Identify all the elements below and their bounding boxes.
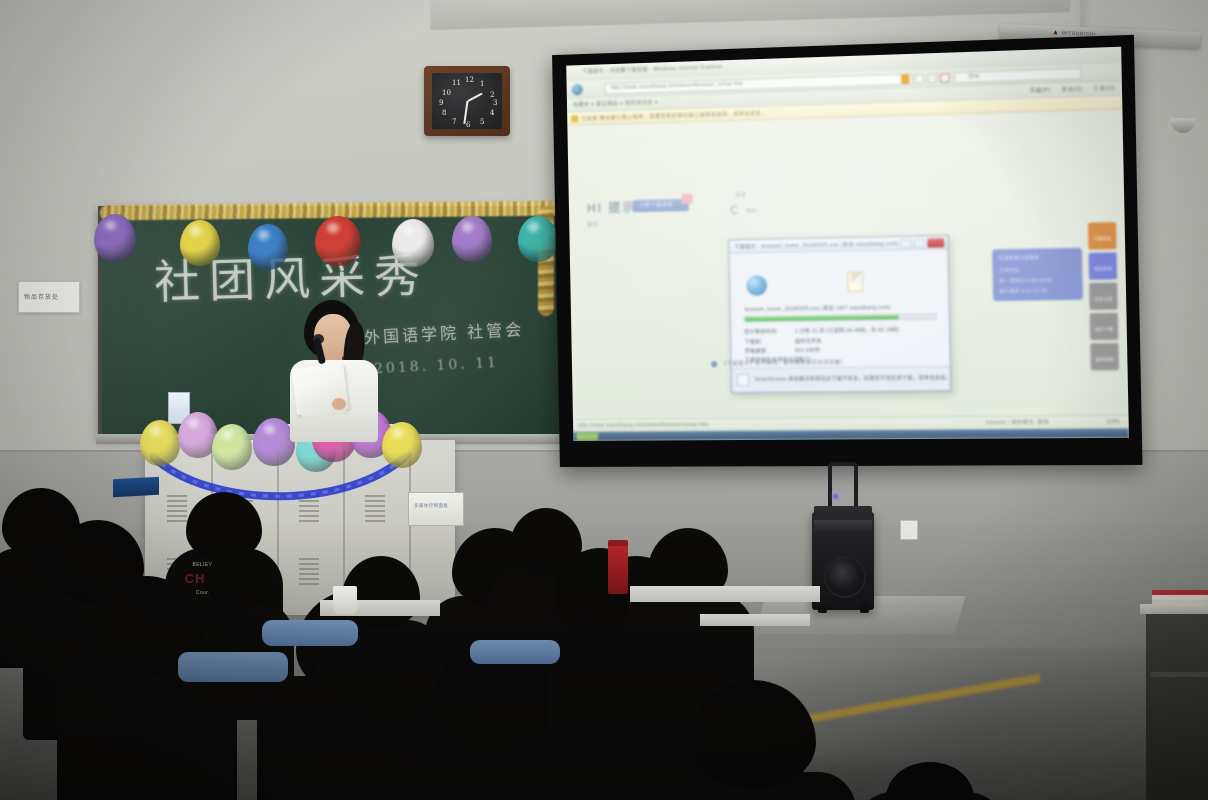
promo-text: 【下载提示】永不掉线，更快捷更稳定的浏览器！ xyxy=(721,359,846,368)
floor-marking-line xyxy=(800,640,1040,760)
tooltip-line-3: 周一至周五 9:00-18:00 xyxy=(999,277,1053,284)
clock-numeral-5: 5 xyxy=(480,118,484,126)
row-value-time: 1 分钟 21 秒 (已复制 54.4MB，共 82.1MB) xyxy=(795,326,900,335)
locker-vent xyxy=(299,558,319,588)
new-badge xyxy=(681,194,692,204)
tooltip-line-1: 在线客服为您服务 xyxy=(999,255,1040,262)
balloon xyxy=(518,216,558,262)
classroom-scene: 物品存放处 12 1 2 3 4 5 6 7 8 9 10 11 社团风采秀 外… xyxy=(0,0,1208,800)
phone-button[interactable]: 电话咨询 xyxy=(1088,252,1117,280)
clock-numeral-1: 1 xyxy=(480,80,484,88)
row-key-time: 估计剩余时间: xyxy=(744,328,778,336)
wall-sign-label: 物品存放处 xyxy=(24,292,59,301)
menu-tools[interactable]: 工具(O) xyxy=(1094,85,1116,92)
row-value-path: 临时文件夹 xyxy=(795,338,822,345)
dialog-body: browser_home_20180425.exe (来自 cdn7.xiaza… xyxy=(729,249,950,392)
promo-badge[interactable]: 下载体验 xyxy=(1088,222,1117,250)
warning-icon xyxy=(571,115,578,122)
clock-numeral-8: 8 xyxy=(442,109,446,117)
promo-icon xyxy=(711,361,717,367)
book-stack xyxy=(1152,590,1208,606)
close-icon[interactable] xyxy=(927,238,944,248)
hi-label: HI 提示 xyxy=(587,198,637,216)
file-icon xyxy=(847,271,863,292)
balloon xyxy=(315,216,361,266)
night-mode-label[interactable]: 夜间 xyxy=(746,207,756,214)
chair-back xyxy=(262,620,358,646)
web-page-body: HI 提示 立即下载体验 提示 登录 夜间 下载提示 - browser_hom… xyxy=(567,109,1128,419)
tooltip-line-4: 周六周日 9:00-17:00 xyxy=(999,288,1047,295)
night-mode-icon[interactable] xyxy=(731,206,739,214)
refresh-icon[interactable] xyxy=(927,74,937,84)
paper-cup xyxy=(333,586,357,614)
speaker-led-icon xyxy=(833,494,838,499)
globe-icon xyxy=(746,275,767,296)
clock-numeral-12: 12 xyxy=(465,76,474,84)
clock-hour-hand xyxy=(468,93,483,102)
hi-small-note: 提示 xyxy=(587,221,598,228)
balloon xyxy=(180,220,220,266)
book xyxy=(1152,600,1208,605)
projected-browser: 下载提示 - 浏览器下载管理 - Windows Internet Explor… xyxy=(566,47,1129,441)
thermos-bottle xyxy=(608,546,628,594)
search-placeholder: Bing xyxy=(968,73,979,80)
presenter-hand xyxy=(332,398,346,410)
speaker-wheel xyxy=(818,604,827,613)
balloon xyxy=(392,219,434,267)
row-key-speed: 传输速度: xyxy=(745,347,768,354)
desk-surface xyxy=(630,586,820,602)
maximize-icon[interactable] xyxy=(914,238,926,247)
side-cabinet xyxy=(1146,612,1208,800)
wall-outlet xyxy=(900,520,918,540)
speaker-cone xyxy=(824,556,866,598)
tooltip-line-2: 工作时间 xyxy=(999,268,1020,275)
status-url: http://www.xiazaibang.com/down/browser/s… xyxy=(578,422,709,429)
control-panel-label: 多媒体控制面板 xyxy=(414,503,448,509)
desk-surface xyxy=(700,614,810,626)
history-button[interactable]: 历史记录 xyxy=(1089,283,1118,311)
download-file-name: browser_home_20180425.exe (来自 cdn7.xiaza… xyxy=(745,304,891,313)
clock-numeral-4: 4 xyxy=(490,109,494,117)
mitsubishi-logo-icon: ▲ xyxy=(1052,29,1060,36)
balloon xyxy=(140,420,180,466)
clock-numeral-9: 9 xyxy=(439,99,443,107)
wall-clock: 12 1 2 3 4 5 6 7 8 9 10 11 xyxy=(424,66,510,136)
download-dialog[interactable]: 下载提示 - browser_home_20180425.exe (来自 xia… xyxy=(728,235,951,394)
smartscreen-icon xyxy=(737,374,750,386)
balloon xyxy=(94,214,136,262)
clock-numeral-11: 11 xyxy=(452,79,461,87)
clock-numeral-10: 10 xyxy=(442,89,451,97)
status-zone: Internet | 保护模式: 禁用 xyxy=(985,419,1049,427)
download-cta-label: 立即下载体验 xyxy=(639,201,673,209)
menu-page[interactable]: 页面(P) xyxy=(1030,87,1051,94)
chair-back xyxy=(178,652,288,682)
speaker-trolley-handle xyxy=(828,462,858,510)
service-rail[interactable]: 下载体验电话咨询历史记录软件下载返回顶部 xyxy=(1088,222,1119,373)
balloon xyxy=(452,216,492,262)
status-zoom: 100% xyxy=(1106,419,1120,425)
stop-icon[interactable] xyxy=(940,73,950,83)
lock-icon xyxy=(901,74,910,84)
top-button[interactable]: 返回顶部 xyxy=(1090,343,1119,370)
balloon xyxy=(212,424,252,470)
start-button[interactable] xyxy=(576,433,598,440)
row-value-speed: 561 KB/秒 xyxy=(795,347,820,354)
clock-numeral-6: 6 xyxy=(466,121,470,129)
projection-screen-image: 下载提示 - 浏览器下载管理 - Windows Internet Explor… xyxy=(566,47,1129,441)
speaker-wheel xyxy=(860,604,869,613)
speaker-control-strip xyxy=(814,520,872,532)
cabinet-shelf xyxy=(1150,672,1208,677)
student-presenter xyxy=(272,300,392,440)
balloon xyxy=(248,224,288,270)
login-link[interactable]: 登录 xyxy=(735,191,745,198)
audience-member-head xyxy=(206,548,272,608)
clock-numeral-2: 2 xyxy=(490,91,494,99)
menu-security[interactable]: 安全(S) xyxy=(1062,87,1083,94)
clock-numeral-3: 3 xyxy=(493,99,497,107)
minimize-icon[interactable] xyxy=(900,239,912,248)
projection-screen: 下载提示 - 浏览器下载管理 - Windows Internet Explor… xyxy=(552,35,1142,467)
clock-face: 12 1 2 3 4 5 6 7 8 9 10 11 xyxy=(432,73,502,129)
download-button[interactable]: 软件下载 xyxy=(1090,313,1119,340)
clock-numeral-7: 7 xyxy=(452,118,456,126)
multimedia-control-panel[interactable] xyxy=(408,492,464,526)
service-tooltip: 在线客服为您服务 工作时间 周一至周五 9:00-18:00 周六周日 9:00… xyxy=(992,248,1083,301)
compat-view-icon[interactable] xyxy=(915,74,925,84)
chair-back xyxy=(470,640,560,664)
row-key-path: 下载到: xyxy=(744,338,762,345)
